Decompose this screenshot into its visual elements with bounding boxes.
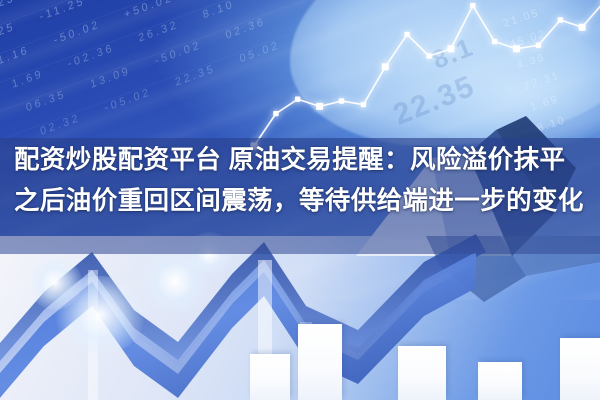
bar-column bbox=[560, 338, 600, 400]
headline-line-2: 之后油价重回区间震荡，等待供给端进一步的变化 bbox=[14, 181, 586, 222]
line-chart-node bbox=[404, 32, 409, 37]
bar-column bbox=[298, 324, 342, 400]
line-chart-node bbox=[382, 63, 389, 70]
bar-column bbox=[398, 346, 446, 400]
bar-column bbox=[478, 362, 522, 400]
headline-line-1: 配资炒股配资平台 原油交易提醒：风险溢价抹平 bbox=[14, 140, 586, 181]
banner-image: 8.1 22.35 -11.25+5.02-02.3621.052.05-05.… bbox=[0, 0, 600, 400]
line-chart-node bbox=[558, 17, 563, 22]
glow-spark bbox=[54, 276, 146, 354]
headline: 配资炒股配资平台 原油交易提醒：风险溢价抹平 之后油价重回区间震荡，等待供给端进… bbox=[0, 140, 600, 222]
bar-column bbox=[250, 354, 290, 400]
line-chart-node bbox=[579, 24, 586, 31]
bar-chart-columns bbox=[250, 300, 600, 400]
line-chart-node bbox=[536, 43, 541, 48]
line-chart-node bbox=[447, 45, 454, 52]
ticker-value: -11.25 bbox=[0, 0, 16, 20]
line-chart-node bbox=[492, 39, 497, 44]
line-chart-node bbox=[513, 45, 520, 52]
line-chart-node bbox=[426, 53, 431, 58]
line-chart-node bbox=[470, 3, 475, 8]
line-chart-node bbox=[273, 111, 278, 116]
ticker-value: 1.25 bbox=[0, 20, 17, 43]
